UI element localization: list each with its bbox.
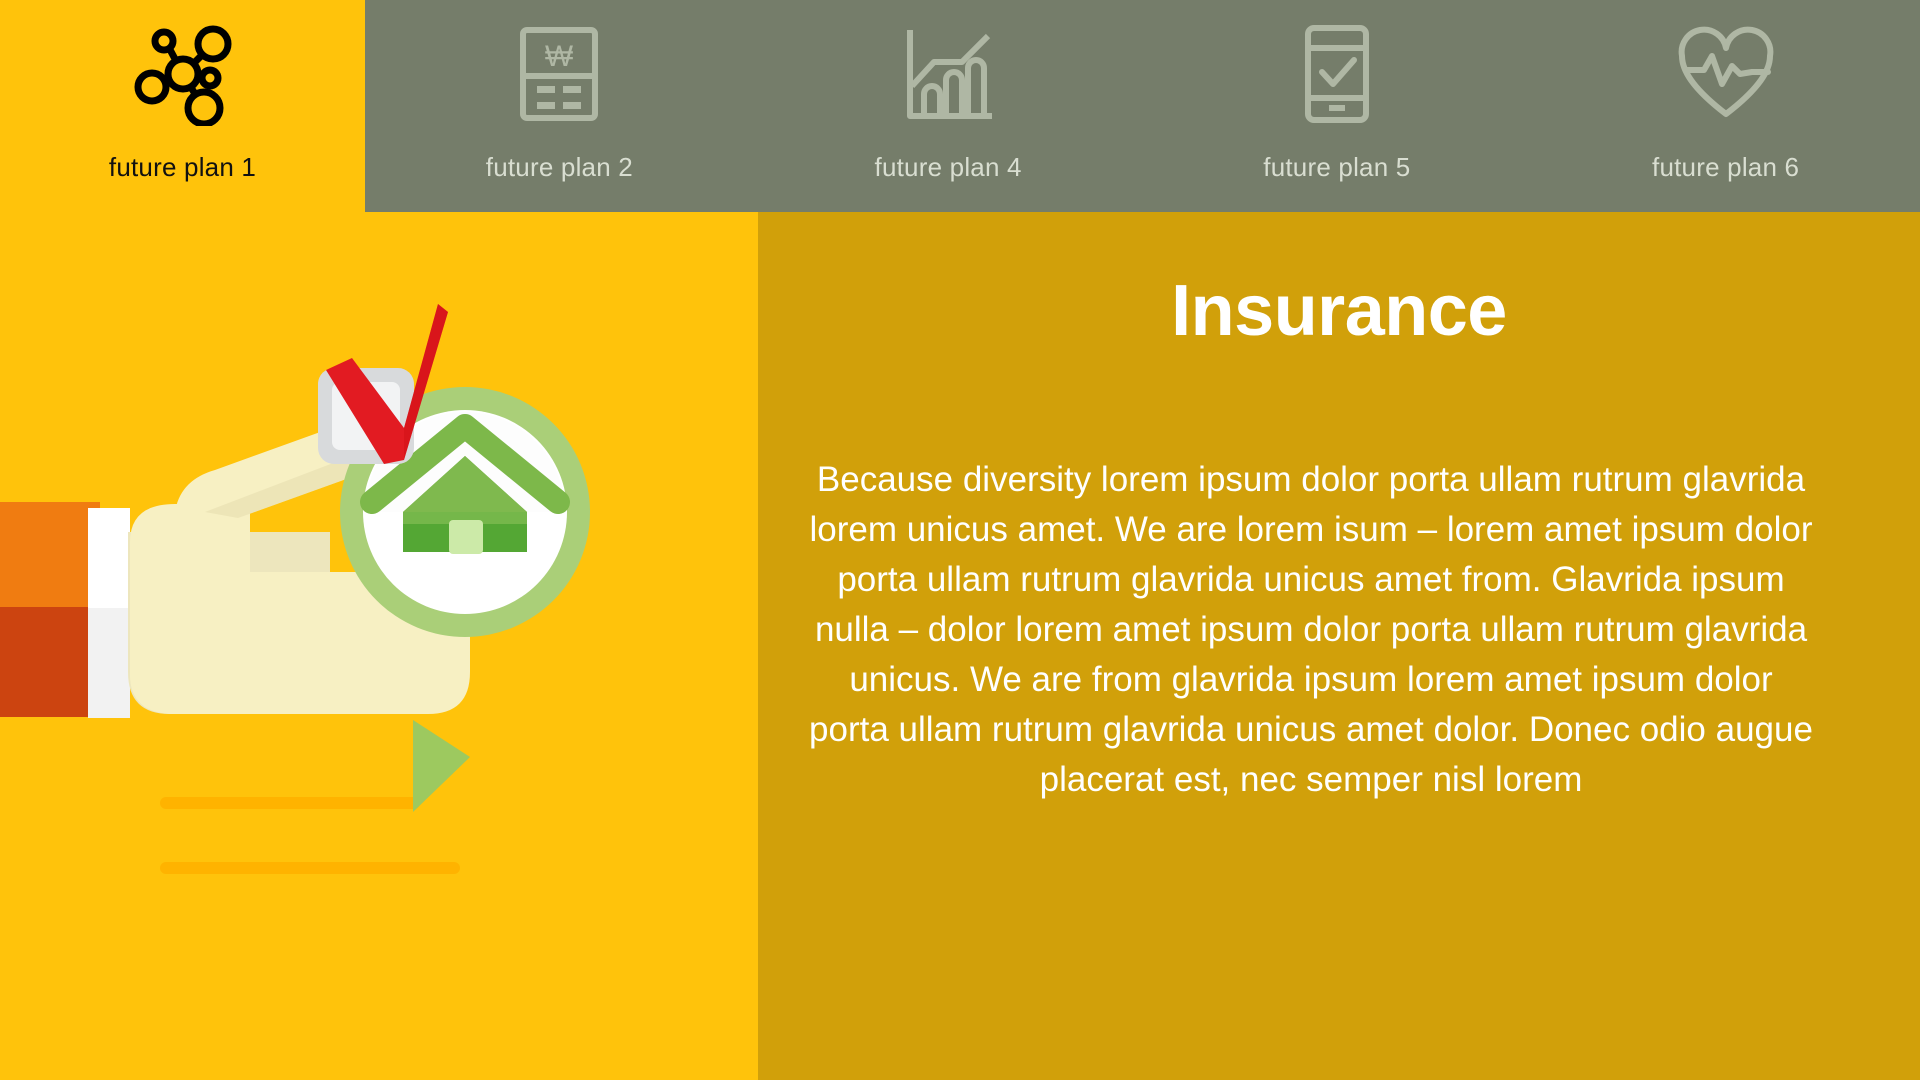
hand-pointing-home-insurance-illustration <box>0 212 758 1080</box>
tab-label: future plan 1 <box>109 152 256 183</box>
svg-text:₩: ₩ <box>545 40 574 73</box>
tab-future-plan-6[interactable]: future plan 6 <box>1531 0 1920 212</box>
network-hub-icon <box>131 22 235 126</box>
tab-label: future plan 2 <box>486 152 633 183</box>
tab-label: future plan 5 <box>1263 152 1410 183</box>
white-cuff-shadow <box>88 608 130 718</box>
tab-label: future plan 6 <box>1652 152 1799 183</box>
heart-pulse-icon <box>1674 22 1778 126</box>
slide-root: future plan 1 ₩ future plan 2 <box>0 0 1920 1080</box>
bar-chart-growth-icon <box>900 22 996 126</box>
tab-label: future plan 4 <box>875 152 1022 183</box>
tab-future-plan-4[interactable]: future plan 4 <box>754 0 1143 212</box>
tab-future-plan-2[interactable]: ₩ future plan 2 <box>365 0 754 212</box>
orange-sleeve-shadow <box>0 607 100 717</box>
white-cuff <box>88 508 130 608</box>
tab-future-plan-1[interactable]: future plan 1 <box>0 0 365 212</box>
body-paragraph: Because diversity lorem ipsum dolor port… <box>806 455 1816 805</box>
page-title: Insurance <box>758 270 1920 352</box>
tab-bar: ₩ future plan 2 future plan 4 <box>365 0 1920 212</box>
smartphone-check-icon <box>1300 22 1374 126</box>
calculator-won-icon: ₩ <box>515 22 603 126</box>
orange-sleeve <box>0 502 100 607</box>
tab-future-plan-5[interactable]: future plan 5 <box>1143 0 1532 212</box>
